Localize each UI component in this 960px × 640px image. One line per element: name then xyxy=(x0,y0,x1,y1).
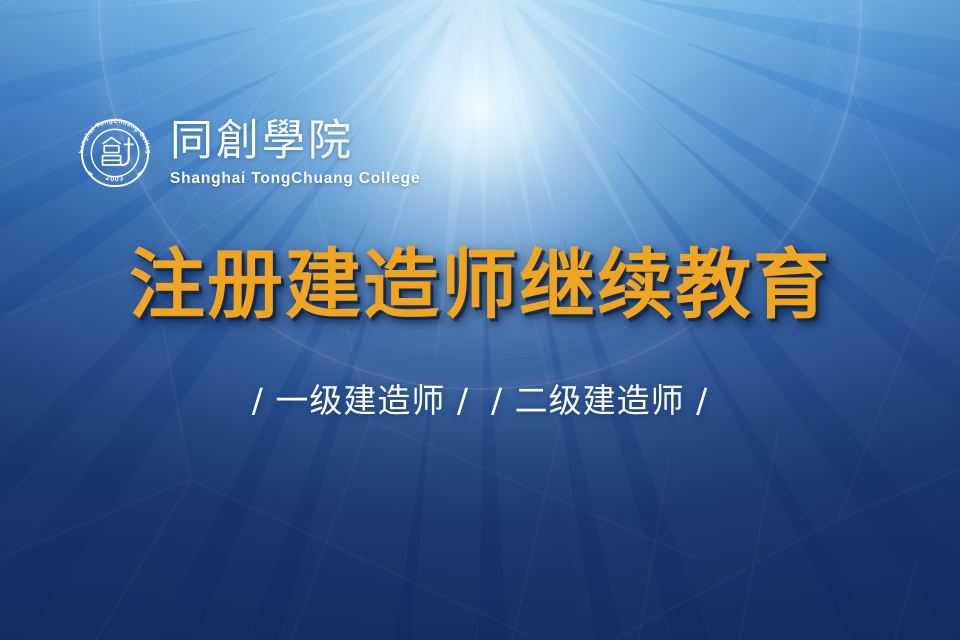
brand-name-cn: 同創學院 xyxy=(170,120,354,163)
brand-logo: Shanghai TongChuang College 2003 xyxy=(72,110,420,196)
page-subtitle: / 一级建造师 // 二级建造师 / xyxy=(0,380,960,423)
college-seal-icon: Shanghai TongChuang College 2003 xyxy=(72,110,158,196)
seal-arc-text: Shanghai TongChuang College xyxy=(72,110,152,154)
promo-banner: Shanghai TongChuang College 2003 xyxy=(0,0,960,640)
svg-text:Shanghai TongChuang College: Shanghai TongChuang College xyxy=(72,110,152,154)
brand-wordmark: 同創學院 Shanghai TongChuang College xyxy=(170,118,420,188)
subtitle-level-two: / 二级建造师 / xyxy=(491,381,708,420)
subtitle-level-one: / 一级建造师 / xyxy=(252,381,469,420)
banner-content: Shanghai TongChuang College 2003 xyxy=(0,0,960,640)
page-title: 注册建造师继续教育 xyxy=(0,247,960,323)
brand-name-en: Shanghai TongChuang College xyxy=(170,170,420,188)
